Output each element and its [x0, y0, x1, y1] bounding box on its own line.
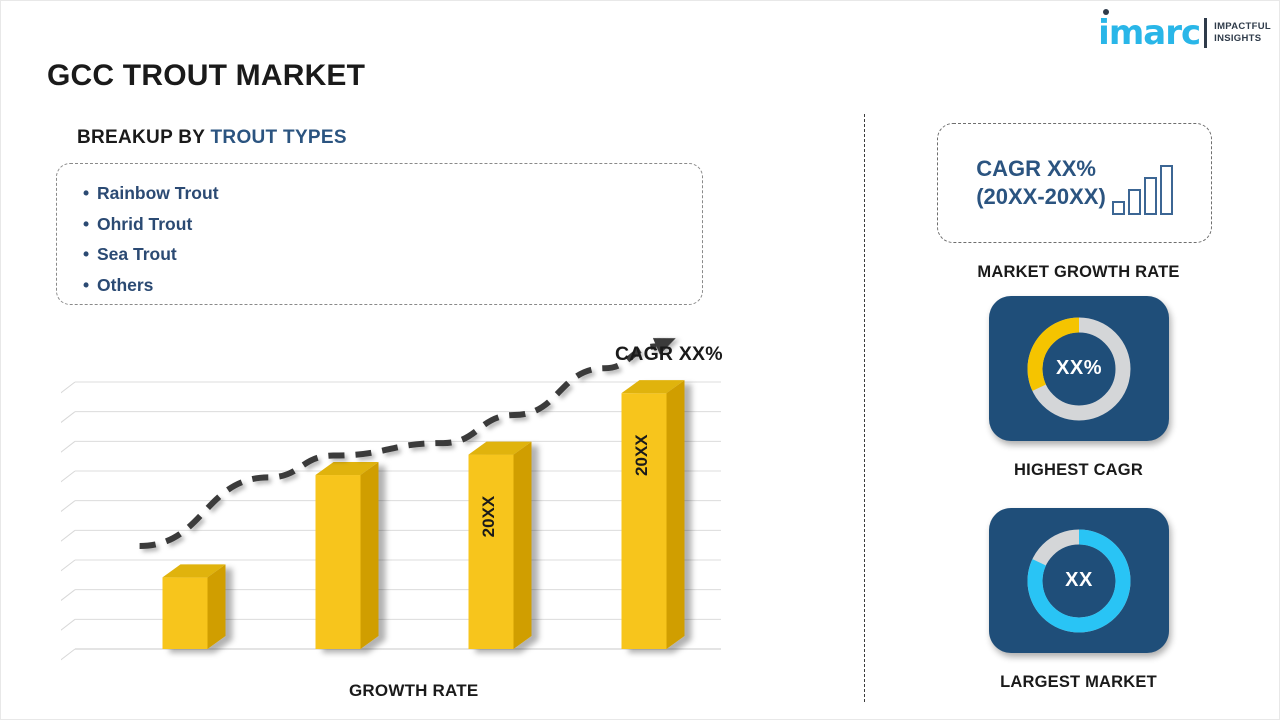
breakup-heading-accent: TROUT TYPES [211, 127, 347, 148]
logo-divider [1204, 18, 1207, 48]
market-growth-rate-box: CAGR XX% (20XX-20XX) [937, 123, 1212, 243]
breakup-heading: BREAKUP BY TROUT TYPES [77, 127, 347, 149]
growth-rate-text: CAGR XX% (20XX-20XX) [976, 155, 1106, 211]
breakup-heading-prefix: BREAKUP BY [77, 127, 211, 148]
gridline-depth-edge [61, 619, 75, 639]
bar-chart-icon [1112, 165, 1173, 215]
gridline-depth-edge [61, 441, 75, 461]
largest-market-card: XX [989, 508, 1169, 653]
chart-bars: 20XX20XX [163, 380, 685, 649]
list-item: •Sea Trout [83, 239, 702, 270]
gridline-depth-edge [61, 412, 75, 432]
bar-side-face [514, 442, 532, 649]
largest-market-value: XX [1020, 522, 1138, 640]
bar [622, 380, 685, 649]
bar [469, 442, 532, 649]
chart-x-axis-label: GROWTH RATE [349, 681, 478, 701]
bar-front-face [163, 577, 208, 649]
chart-canvas: 20XX20XX [61, 331, 751, 661]
list-item: •Rainbow Trout [83, 178, 702, 209]
gridline-depth-edge [61, 590, 75, 610]
bar [316, 462, 379, 649]
bullet-icon: • [83, 178, 97, 209]
bar-side-face [667, 380, 685, 649]
gridline-depth-edge [61, 530, 75, 550]
bar-value-label: 20XX [479, 495, 498, 537]
trout-types-list: •Rainbow Trout •Ohrid Trout •Sea Trout •… [57, 164, 702, 300]
market-growth-rate-caption: MARKET GROWTH RATE [881, 263, 1276, 282]
panel-divider [864, 114, 865, 702]
growth-rate-bar-chart: 20XX20XX [61, 331, 751, 661]
list-item-label: Sea Trout [97, 244, 177, 264]
list-item-label: Ohrid Trout [97, 214, 192, 234]
trend-line-path [140, 346, 657, 546]
largest-market-caption: LARGEST MARKET [881, 673, 1276, 692]
bar-front-face [469, 455, 514, 649]
gridline-depth-edge [61, 649, 75, 661]
bullet-icon: • [83, 239, 97, 270]
list-item-label: Others [97, 275, 153, 295]
bar-side-face [208, 564, 226, 649]
gridline-depth-edge [61, 560, 75, 580]
bar-front-face [316, 475, 361, 649]
gridline-depth-edge [61, 471, 75, 491]
bullet-icon: • [83, 209, 97, 240]
logo-wordmark: imarc [1098, 16, 1200, 50]
gridline-depth-edge [61, 382, 75, 402]
list-item-label: Rainbow Trout [97, 183, 219, 203]
gridline-depth-edge [61, 501, 75, 521]
chart-trend-line [140, 331, 680, 546]
highest-cagr-donut: XX% [1020, 310, 1138, 428]
growth-rate-line1: CAGR XX% [976, 155, 1106, 183]
list-item: •Ohrid Trout [83, 209, 702, 240]
bar-value-label: 20XX [632, 434, 651, 476]
logo-wordmark-text: imarc [1098, 13, 1200, 53]
bar-side-face [361, 462, 379, 649]
chart-cagr-callout: CAGR XX% [615, 343, 723, 366]
highest-cagr-caption: HIGHEST CAGR [881, 461, 1276, 480]
bullet-icon: • [83, 270, 97, 301]
logo-tagline-line1: IMPACTFUL [1214, 21, 1271, 33]
page-title: GCC TROUT MARKET [47, 59, 365, 93]
list-item: •Others [83, 270, 702, 301]
right-stats-panel: CAGR XX% (20XX-20XX) MARKET GROWTH RATE … [881, 111, 1276, 711]
logo-tagline: IMPACTFUL INSIGHTS [1214, 21, 1271, 45]
highest-cagr-card: XX% [989, 296, 1169, 441]
bar [163, 564, 226, 649]
growth-rate-line2: (20XX-20XX) [976, 183, 1106, 211]
imarc-logo: imarc IMPACTFUL INSIGHTS [1098, 13, 1271, 53]
logo-tagline-line2: INSIGHTS [1214, 33, 1271, 45]
largest-market-donut: XX [1020, 522, 1138, 640]
infographic-page: imarc IMPACTFUL INSIGHTS GCC TROUT MARKE… [0, 0, 1280, 720]
bar-front-face [622, 393, 667, 649]
highest-cagr-value: XX% [1020, 310, 1138, 428]
trout-types-box: •Rainbow Trout •Ohrid Trout •Sea Trout •… [56, 163, 703, 305]
